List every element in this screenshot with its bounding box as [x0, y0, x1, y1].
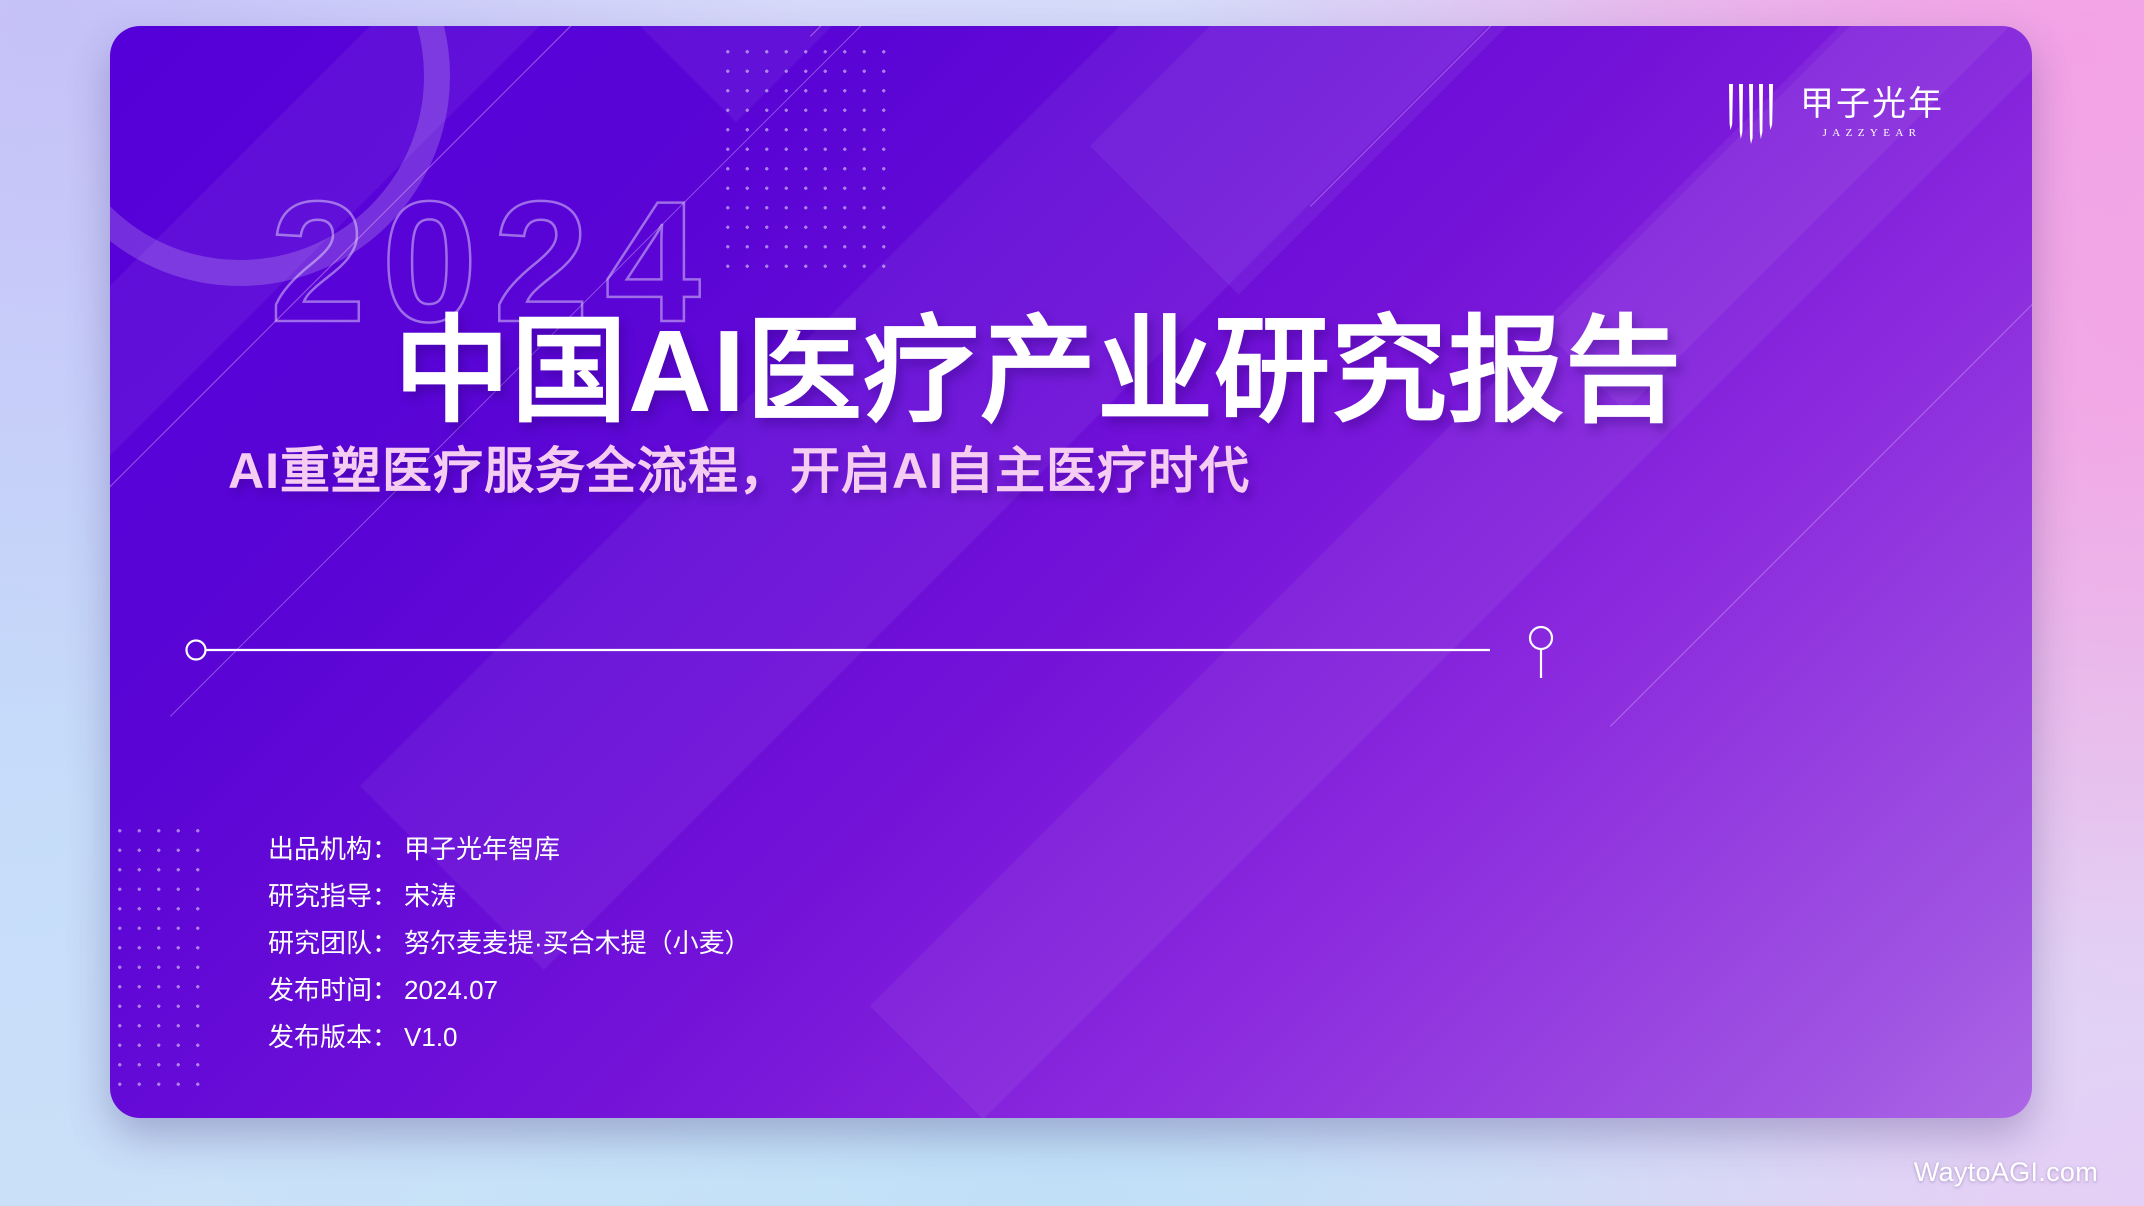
metadata-row: 发布时间： 2024.07 [268, 967, 751, 1014]
jazzyear-stroke-mark-icon [1726, 82, 1784, 144]
metadata-value: 努尔麦麦提·买合木提（小麦） [404, 920, 751, 967]
metadata-label: 出品机构： [268, 826, 398, 873]
metadata-row: 研究指导： 宋涛 [268, 873, 751, 920]
metadata-label: 发布时间： [268, 967, 398, 1014]
metadata-row: 研究团队： 努尔麦麦提·买合木提（小麦） [268, 920, 751, 967]
dot-grid-bottom [110, 821, 212, 1091]
metadata-value: 2024.07 [404, 967, 498, 1014]
logo-wordmark: 甲子光年 JAZZYEAR [1800, 87, 1944, 139]
diagonal-hairline [810, 26, 2032, 37]
logo-chinese-name: 甲子光年 [1800, 87, 1944, 124]
metadata-value: V1.0 [404, 1014, 458, 1061]
metadata-row: 出品机构： 甲子光年智库 [268, 826, 751, 873]
diagonal-band [870, 26, 2032, 1118]
metadata-row: 发布版本： V1.0 [268, 1014, 751, 1061]
metadata-label: 研究团队： [268, 920, 398, 967]
watermark-text: WaytoAGI.com [1914, 1157, 2098, 1188]
dot-grid-top [718, 42, 898, 274]
metadata-value: 宋涛 [404, 873, 456, 920]
metadata-label: 研究指导： [268, 873, 398, 920]
metadata-label: 发布版本： [268, 1014, 398, 1061]
page-subtitle: AI重塑医疗服务全流程，开启AI自主医疗时代 [228, 431, 1250, 503]
diagonal-band [1090, 26, 2032, 294]
rule-left-circle [187, 641, 206, 660]
page-title: 中国AI医疗产业研究报告 [394, 301, 1682, 443]
poster-canvas: 2024 中国AI医疗产业研究报告 AI重塑医疗服务全流程，开启AI自主医疗时代… [0, 0, 2144, 1206]
logo-english-name: JAZZYEAR [1823, 127, 1922, 139]
rule-right-terminal [1490, 608, 1550, 678]
rule-right-circle [1530, 627, 1552, 649]
poster-card: 2024 中国AI医疗产业研究报告 AI重塑医疗服务全流程，开启AI自主医疗时代… [110, 26, 2032, 1118]
metadata-block: 出品机构： 甲子光年智库 研究指导： 宋涛 研究团队： 努尔麦麦提·买合木提（小… [268, 826, 751, 1061]
brand-logo: 甲子光年 JAZZYEAR [1726, 82, 1944, 144]
subtitle-rule-decoration [170, 588, 1490, 698]
metadata-value: 甲子光年智库 [404, 826, 560, 873]
